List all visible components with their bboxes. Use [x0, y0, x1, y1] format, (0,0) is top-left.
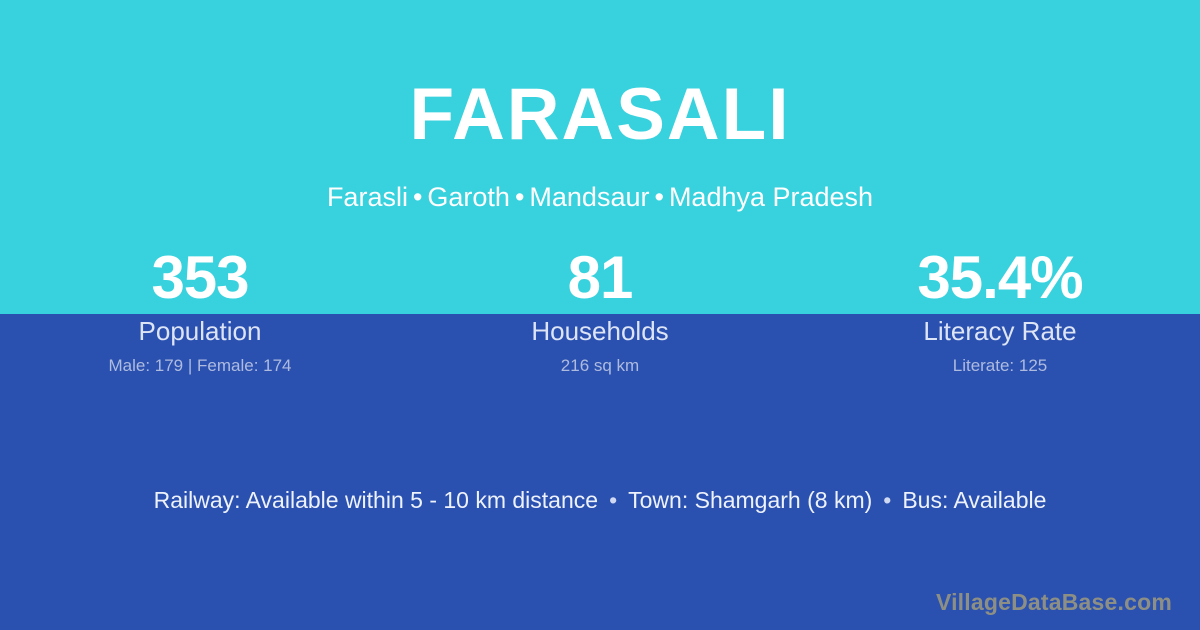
- breadcrumb-village: Farasli: [327, 182, 408, 212]
- facility-separator-1: •: [598, 487, 628, 513]
- breadcrumb-block: Garoth: [427, 182, 510, 212]
- stat-literacy-rate-value: 35.4%: [800, 246, 1200, 310]
- breadcrumb-separator-3: •: [649, 182, 668, 212]
- breadcrumb: Farasli•Garoth•Mandsaur•Madhya Pradesh: [0, 181, 1200, 215]
- stat-literacy-rate-label: Literacy Rate: [800, 314, 1200, 348]
- village-info-card: FARASALI Farasli•Garoth•Mandsaur•Madhya …: [0, 0, 1200, 630]
- facility-separator-2: •: [872, 487, 902, 513]
- stat-literacy-rate-sub: Literate: 125: [800, 354, 1200, 378]
- stat-population-value: 353: [0, 246, 400, 310]
- stat-households: 81 Households 216 sq km: [400, 246, 800, 378]
- stat-households-sub: 216 sq km: [400, 354, 800, 378]
- page-title: FARASALI: [0, 78, 1200, 151]
- stat-literacy-rate: 35.4% Literacy Rate Literate: 125: [800, 246, 1200, 378]
- breadcrumb-state: Madhya Pradesh: [669, 182, 873, 212]
- stat-population: 353 Population Male: 179 | Female: 174: [0, 246, 400, 378]
- stat-households-label: Households: [400, 314, 800, 348]
- breadcrumb-district: Mandsaur: [529, 182, 649, 212]
- facilities-line: Railway: Available within 5 - 10 km dist…: [0, 485, 1200, 515]
- breadcrumb-separator-1: •: [408, 182, 427, 212]
- stats-row: 353 Population Male: 179 | Female: 174 8…: [0, 246, 1200, 378]
- stat-population-label: Population: [0, 314, 400, 348]
- facility-railway: Railway: Available within 5 - 10 km dist…: [154, 487, 598, 513]
- stat-population-sub: Male: 179 | Female: 174: [0, 354, 400, 378]
- stat-households-value: 81: [400, 246, 800, 310]
- facility-bus: Bus: Available: [902, 487, 1046, 513]
- site-brand: VillageDataBase.com: [936, 588, 1172, 616]
- facility-town: Town: Shamgarh (8 km): [628, 487, 872, 513]
- breadcrumb-separator-2: •: [510, 182, 529, 212]
